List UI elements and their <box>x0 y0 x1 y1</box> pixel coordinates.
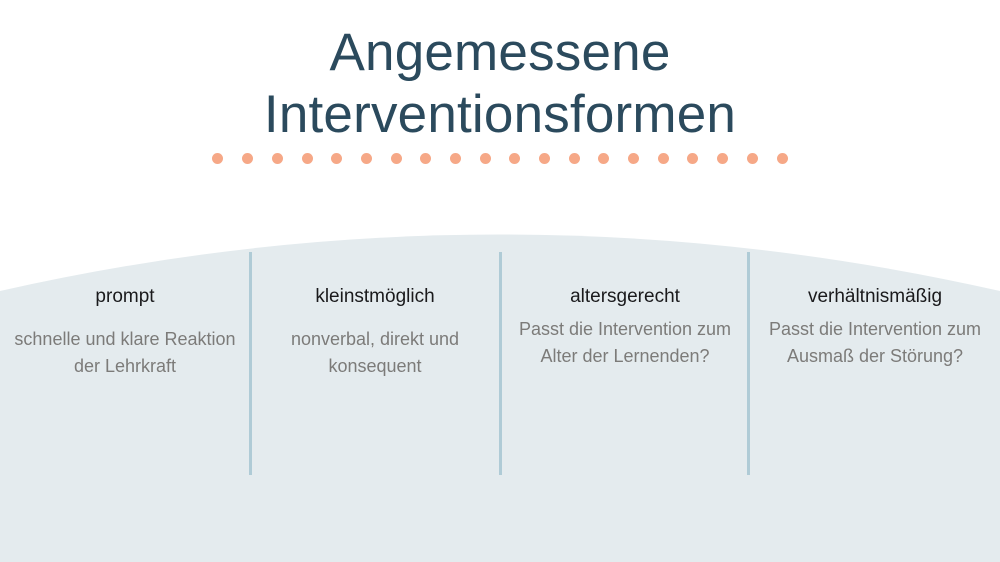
accent-dot-icon <box>212 153 223 164</box>
column-heading: prompt <box>14 285 236 310</box>
column-heading: verhältnismäßig <box>764 285 986 310</box>
accent-dot-icon <box>658 153 669 164</box>
column-heading: kleinstmöglich <box>264 285 486 310</box>
accent-dot-icon <box>598 153 609 164</box>
criteria-column-kleinstmoeglich: kleinstmöglich nonverbal, direkt und kon… <box>250 285 500 485</box>
criteria-column-prompt: prompt schnelle und klare Reaktion der L… <box>0 285 250 485</box>
column-body: Passt die Intervention zum Ausmaß der St… <box>764 316 986 371</box>
accent-dot-icon <box>687 153 698 164</box>
accent-dot-icon <box>391 153 402 164</box>
accent-dot-icon <box>361 153 372 164</box>
criteria-column-verhaeltnismaessig: verhältnismäßig Passt die Intervention z… <box>750 285 1000 485</box>
column-body: nonverbal, direkt und konsequent <box>264 326 486 381</box>
column-body: schnelle und klare Reaktion der Lehrkraf… <box>14 326 236 381</box>
accent-dot-icon <box>628 153 639 164</box>
accent-dot-icon <box>480 153 491 164</box>
accent-dot-icon <box>777 153 788 164</box>
accent-dot-icon <box>242 153 253 164</box>
slide-canvas: Angemessene Interventionsformen prompt s… <box>0 0 1000 562</box>
accent-dot-icon <box>420 153 431 164</box>
accent-dot-icon <box>331 153 342 164</box>
criteria-column-altersgerecht: altersgerecht Passt die Intervention zum… <box>500 285 750 485</box>
column-body: Passt die Intervention zum Alter der Ler… <box>514 316 736 371</box>
accent-dot-icon <box>302 153 313 164</box>
column-heading: altersgerecht <box>514 285 736 310</box>
column-divider <box>249 252 252 475</box>
accent-dot-icon <box>450 153 461 164</box>
title-line-2: Interventionsformen <box>0 84 1000 146</box>
dot-divider <box>0 153 1000 164</box>
accent-dot-icon <box>539 153 550 164</box>
column-divider <box>499 252 502 475</box>
column-divider <box>747 252 750 475</box>
accent-dot-icon <box>509 153 520 164</box>
accent-dot-icon <box>569 153 580 164</box>
accent-dot-icon <box>272 153 283 164</box>
accent-dot-icon <box>747 153 758 164</box>
accent-dot-icon <box>717 153 728 164</box>
title-line-1: Angemessene <box>0 22 1000 84</box>
page-title: Angemessene Interventionsformen <box>0 22 1000 146</box>
